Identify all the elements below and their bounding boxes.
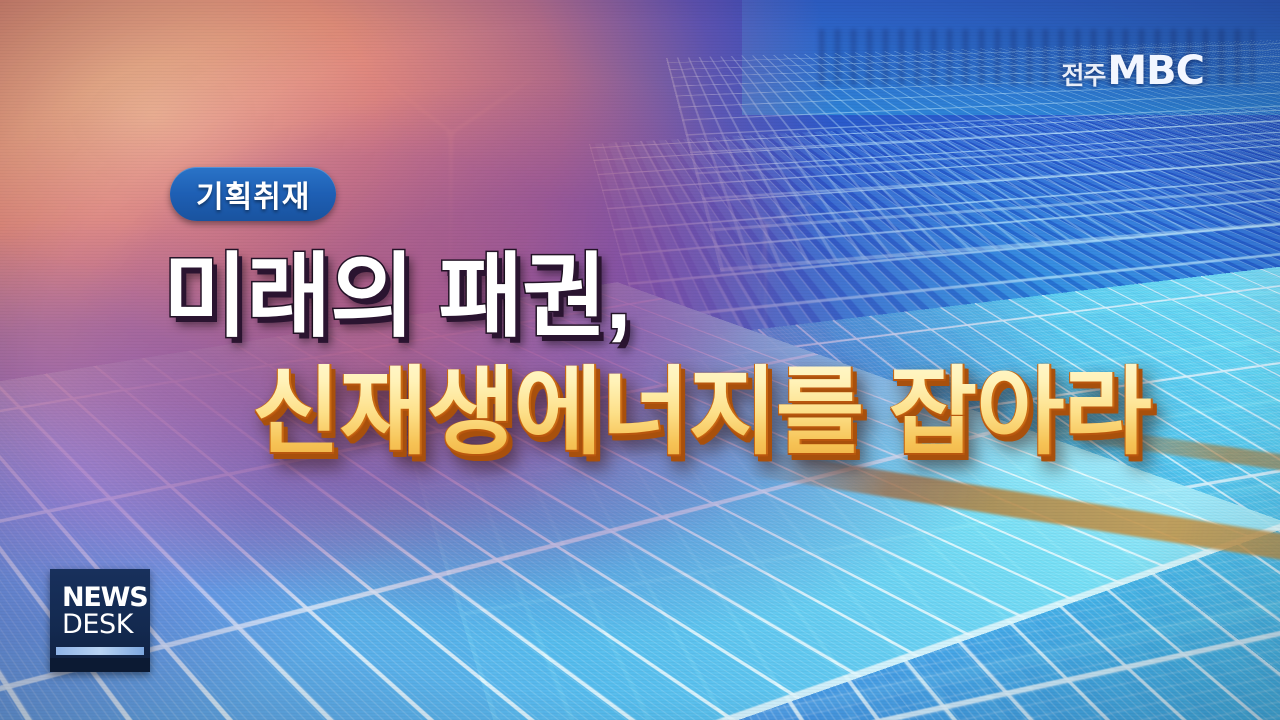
broadcast-frame: 전주 MBC 기획취재 미래의 패권, 신재생에너지를 잡아라 NEWS DES… xyxy=(0,0,1280,720)
channel-logo: 전주 MBC xyxy=(1061,48,1204,94)
program-logo-newsdesk: NEWS DESK xyxy=(50,569,150,672)
program-logo-footer xyxy=(50,658,150,672)
program-logo-line-1: NEWS xyxy=(62,585,150,611)
category-badge: 기획취재 xyxy=(170,167,336,221)
channel-network-label: MBC xyxy=(1107,48,1204,94)
channel-region-label: 전주 xyxy=(1061,56,1105,92)
program-logo-line-2: DESK xyxy=(62,611,150,639)
category-badge-label: 기획취재 xyxy=(196,172,310,216)
program-logo-accent-bar xyxy=(56,647,144,655)
program-logo-text: NEWS DESK xyxy=(50,569,150,647)
headline-line-2: 신재생에너지를 잡아라 xyxy=(252,334,1151,473)
